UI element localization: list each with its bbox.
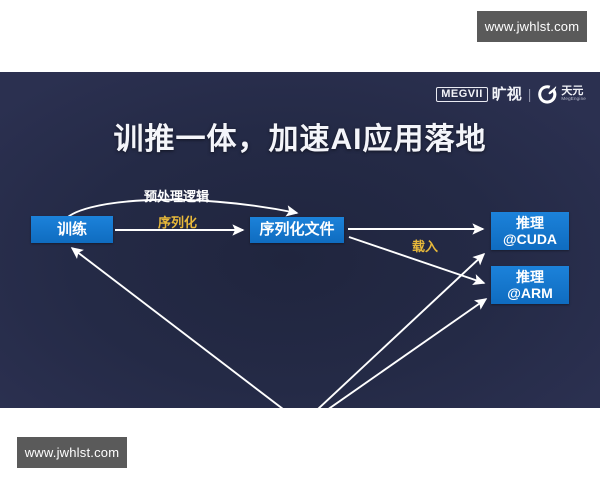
node-inference-arm-label: 推理 @ARM [507,269,553,301]
edge-megengine-to-cuda [303,254,484,408]
edge-megengine-to-train [72,248,300,408]
node-serialized-file-label: 序列化文件 [259,221,334,238]
watermark-top-text: www.jwhlst.com [485,19,580,34]
node-inference-cuda-label: 推理 @CUDA [503,215,557,247]
watermark-bottom-text: www.jwhlst.com [25,445,120,460]
watermark-bottom: www.jwhlst.com [17,437,127,468]
node-train[interactable]: 训练 [31,216,113,243]
node-inference-cuda-line1: 推理 [503,215,557,231]
watermark-top: www.jwhlst.com [477,11,587,42]
node-train-label: 训练 [57,221,87,238]
node-inference-cuda[interactable]: 推理 @CUDA [491,212,569,250]
edge-label-preprocess: 预处理逻辑 [144,186,209,205]
node-inference-arm[interactable]: 推理 @ARM [491,266,569,304]
edge-megengine-to-arm [307,299,486,408]
node-serialized-file[interactable]: 序列化文件 [250,217,344,243]
edge-label-serialize: 序列化 [158,212,197,231]
node-inference-arm-line2: @ARM [507,285,553,301]
node-inference-cuda-line2: @CUDA [503,231,557,247]
node-inference-arm-line1: 推理 [507,269,553,285]
edge-label-load: 载入 [412,236,438,255]
presentation-slide: MEGVII 旷视 | 天元 MegEngine 训推一体，加速AI应用落地 [0,72,600,408]
